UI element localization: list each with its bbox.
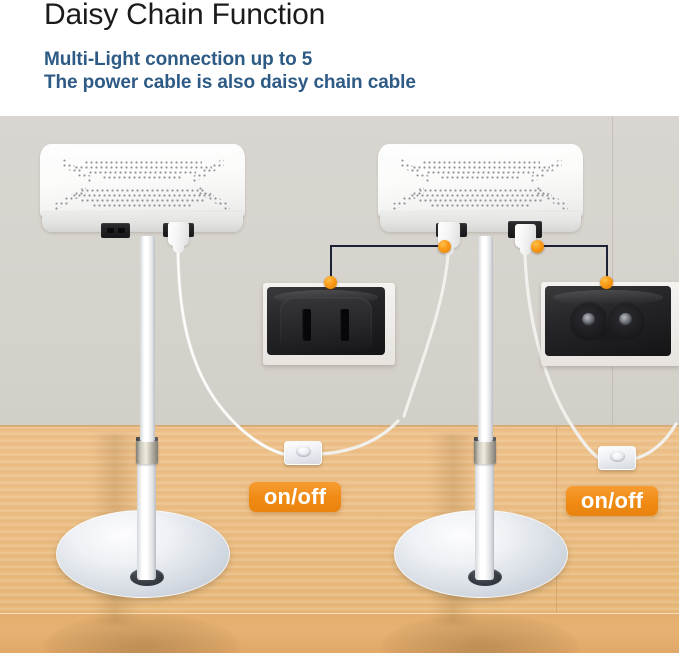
right-head-front-face: [380, 212, 581, 232]
left-pole-collar: [136, 440, 158, 464]
callout-dot-right-lamp-daisy-out: [438, 240, 451, 253]
left-pole-lower: [137, 452, 156, 580]
header-banner: Daisy Chain Function Multi-Light connect…: [0, 0, 679, 116]
right-vent-row-bot-4: [430, 203, 530, 208]
ac-outlet-recess: [280, 297, 372, 349]
badge-right-onoff: on/off: [566, 486, 658, 516]
right-lamp-head: [378, 144, 583, 234]
badge-left-onoff: on/off: [249, 482, 341, 512]
c7-inlet-face: [545, 286, 671, 356]
ac-outlet-slot-left: [302, 309, 311, 341]
c7-center-notch: [597, 328, 619, 341]
subtitle-line-2: The power cable is also daisy chain cabl…: [44, 71, 416, 94]
right-switch-rocker[interactable]: [610, 451, 625, 462]
c7-pin-right: [619, 313, 632, 326]
left-port-slot-a: [107, 228, 114, 233]
badge-right-label: on/off: [581, 488, 643, 514]
right-head-shell: [378, 144, 583, 218]
left-head-shell: [40, 144, 245, 218]
right-leader-horizontal: [538, 245, 608, 247]
callout-dot-ac-outlet: [324, 276, 337, 289]
right-pole-collar: [474, 440, 496, 464]
right-pole-upper: [478, 236, 493, 442]
wall-seam: [612, 116, 613, 428]
ac-outlet-slot-right: [340, 309, 349, 341]
ac-wall-outlet[interactable]: [263, 283, 395, 365]
left-leader-horizontal: [330, 245, 444, 247]
left-vent-row-bot-4: [92, 203, 192, 208]
right-vent-row-top-4: [440, 175, 520, 180]
figure-eight-inlet[interactable]: [541, 282, 679, 366]
subtitle-block: Multi-Light connection up to 5 The power…: [44, 48, 416, 94]
desk-panel-seam: [556, 427, 557, 613]
left-vent-row-top-4: [102, 175, 182, 180]
right-power-plug-neck: [520, 245, 531, 255]
c7-pin-left: [582, 313, 595, 326]
subtitle-line-1: Multi-Light connection up to 5: [44, 48, 416, 71]
left-head-front-face: [42, 212, 243, 232]
product-infographic: Daisy Chain Function Multi-Light connect…: [0, 0, 679, 653]
right-pole-lower: [475, 452, 494, 580]
left-port-slot-b: [118, 228, 125, 233]
badge-left-label: on/off: [264, 484, 326, 510]
product-scene: on/off on/off: [0, 116, 679, 653]
left-lamp-head: [40, 144, 245, 234]
page-title: Daisy Chain Function: [44, 0, 325, 32]
callout-dot-c7-inlet: [600, 276, 613, 289]
right-inline-switch[interactable]: [598, 446, 636, 470]
callout-dot-right-lamp-power: [531, 240, 544, 253]
desk-back-edge: [0, 425, 679, 427]
left-power-plug-neck: [173, 243, 184, 253]
left-inline-switch[interactable]: [284, 441, 322, 465]
left-pole-upper: [140, 236, 155, 442]
ac-outlet-face: [267, 287, 385, 355]
left-switch-rocker[interactable]: [296, 446, 311, 457]
left-daisy-chain-port-empty[interactable]: [101, 223, 130, 238]
